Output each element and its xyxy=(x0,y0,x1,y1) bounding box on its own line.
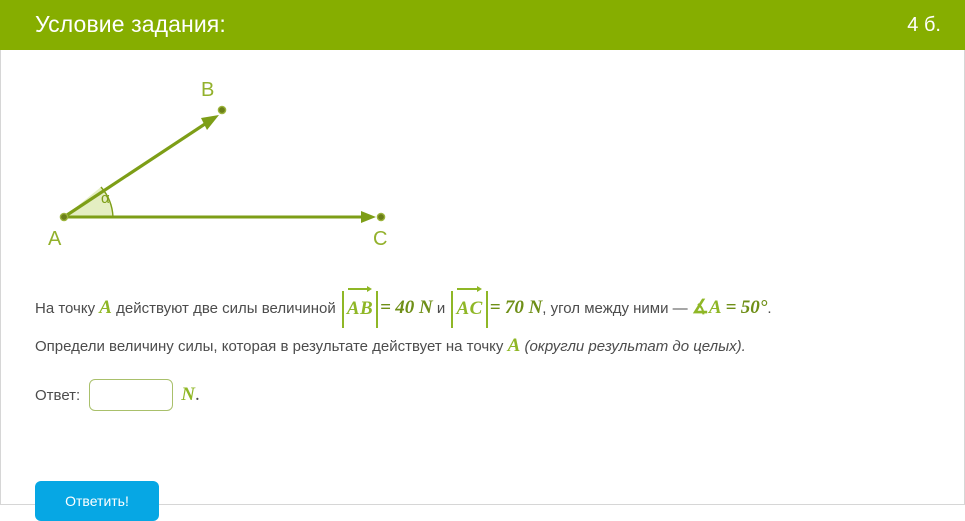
angle-variable: A xyxy=(709,297,722,318)
point-a-variable: A xyxy=(99,297,112,318)
vector-ac-notation: AC xyxy=(451,291,487,328)
value-ac: 70 N xyxy=(505,297,542,318)
page-title: Условие задания: xyxy=(35,11,226,38)
angle-label: α xyxy=(101,190,110,207)
overarrow-icon xyxy=(457,284,481,291)
task-page: Условие задания: 4 б. xyxy=(0,0,965,505)
vector-ab-arrowhead xyxy=(201,115,219,130)
conjunction: и xyxy=(437,300,445,317)
statement-line-1: На точку A действуют две силы величиной … xyxy=(35,290,935,328)
angle-value: 50° xyxy=(741,297,768,318)
point-c-label: C xyxy=(373,228,387,250)
vector-ab-shaft xyxy=(64,120,211,217)
task-content: A B C α На точку A действуют две силы ве… xyxy=(0,50,965,505)
equals-sign-1: = xyxy=(380,297,391,318)
answer-unit-period: . xyxy=(195,384,200,405)
answer-label: Ответ: xyxy=(35,387,80,404)
statement-text-3: , угол между ними — xyxy=(542,300,687,317)
statement-text-2: действуют две силы величиной xyxy=(116,300,336,317)
point-b-dot xyxy=(218,106,225,113)
statement-text-1: На точку xyxy=(35,300,95,317)
equals-sign-2: = xyxy=(490,297,501,318)
answer-unit-text: N xyxy=(181,384,195,405)
task-header: Условие задания: 4 б. xyxy=(0,0,965,50)
point-a-label: A xyxy=(48,228,62,250)
overarrow-icon xyxy=(348,284,372,291)
equals-sign-3: = xyxy=(726,297,737,318)
point-a-dot xyxy=(60,213,67,220)
angle-symbol-icon: ∡ xyxy=(692,297,709,318)
statement-line-2: Определи величину силы, которая в резуль… xyxy=(35,328,935,365)
point-a-variable-2: A xyxy=(508,335,521,356)
answer-unit: N. xyxy=(181,384,199,406)
vector-ac-arrowhead xyxy=(361,211,376,223)
point-c-dot xyxy=(377,213,384,220)
statement-period: . xyxy=(767,300,771,317)
vector-ab-notation: AB xyxy=(342,291,378,328)
submit-answer-button[interactable]: Ответить! xyxy=(35,481,159,521)
points-badge: 4 б. xyxy=(907,14,941,37)
statement-text-4: Определи величину силы, которая в резуль… xyxy=(35,338,503,355)
diagram-svg: A B C α xyxy=(21,70,441,270)
value-ab: 40 N xyxy=(395,297,432,318)
answer-input[interactable] xyxy=(89,379,173,411)
point-b-label: B xyxy=(201,79,214,101)
rounding-note: (округли результат до целых). xyxy=(524,338,745,355)
angle-vectors-diagram: A B C α xyxy=(21,70,441,270)
answer-row: Ответ: N. xyxy=(35,375,200,415)
problem-statement: На точку A действуют две силы величиной … xyxy=(35,290,935,365)
